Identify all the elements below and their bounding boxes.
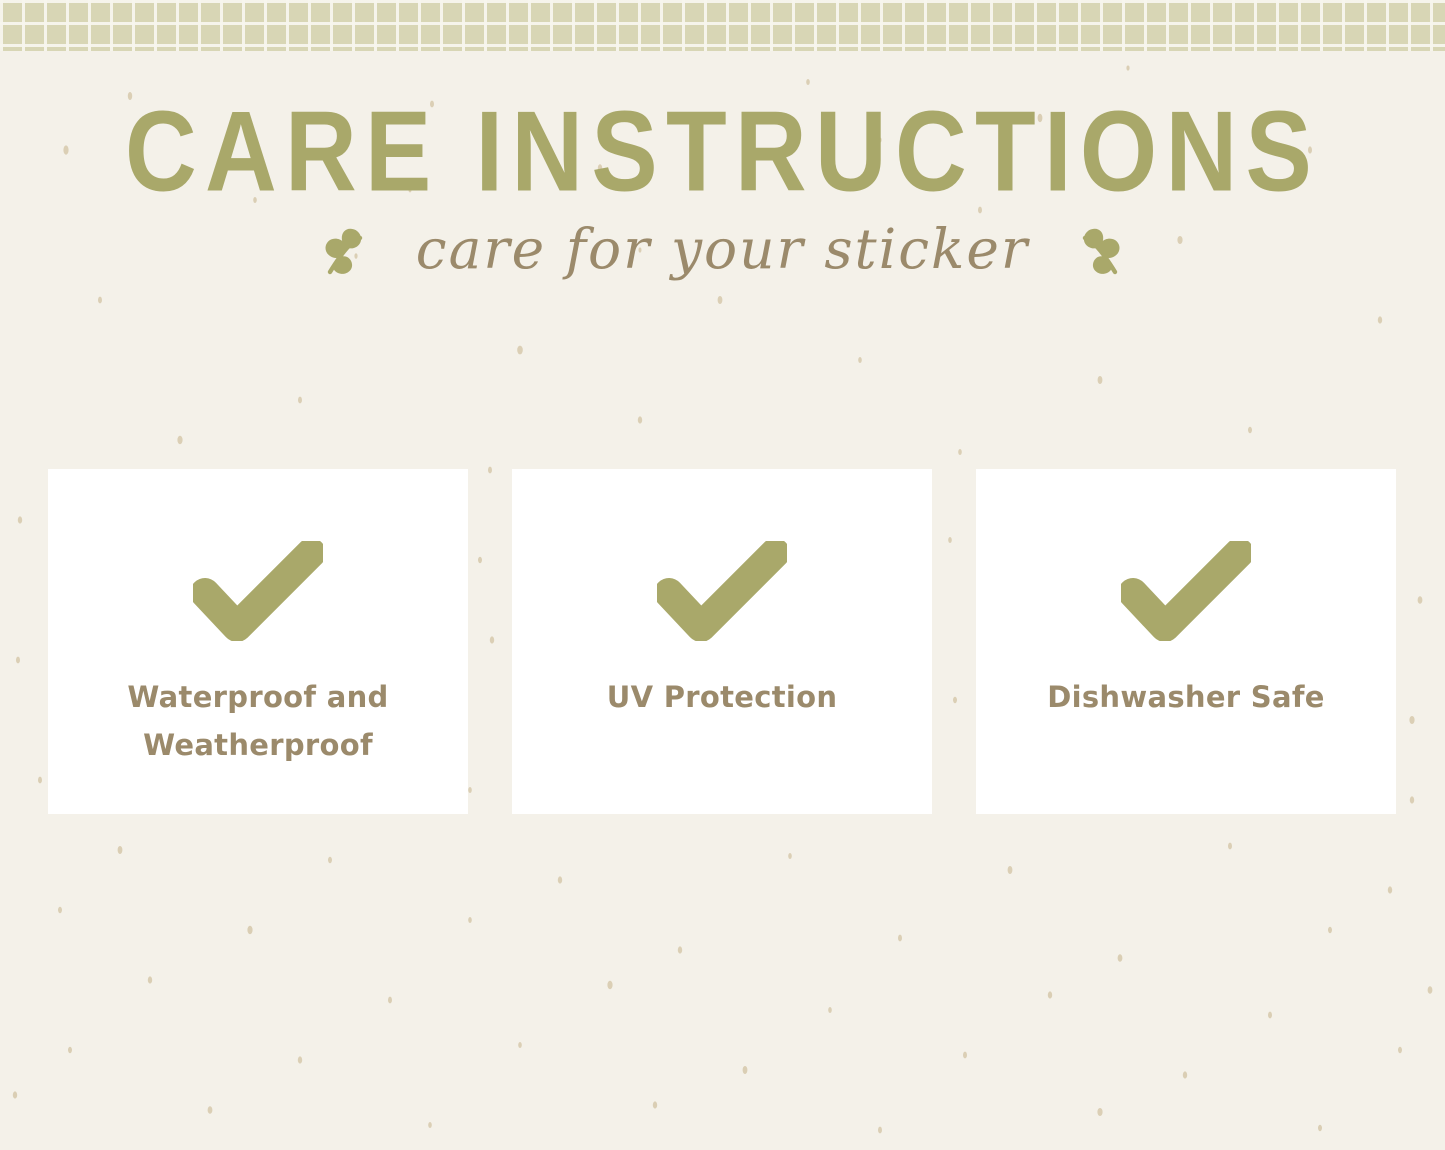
care-instructions-poster: CARE INSTRUCTIONS care for your sticker (0, 0, 1445, 1150)
feature-card-uv-protection: UV Protection (512, 469, 932, 814)
page-subtitle: care for your sticker (416, 214, 1029, 284)
feature-card-label: Waterproof and Weatherproof (108, 673, 408, 769)
poster-header: CARE INSTRUCTIONS care for your sticker (0, 96, 1445, 284)
feature-card-dishwasher-safe: Dishwasher Safe (976, 469, 1396, 814)
feature-card-waterproof: Waterproof and Weatherproof (48, 469, 468, 814)
leaf-sprig-icon (318, 220, 372, 278)
checkmark-icon (657, 541, 787, 641)
checkmark-icon (1121, 541, 1251, 641)
feature-card-label: UV Protection (607, 673, 838, 721)
feature-card-list: Waterproof and Weatherproof UV Protectio… (48, 469, 1396, 814)
leaf-sprig-icon (1073, 220, 1127, 278)
feature-card-label: Dishwasher Safe (1047, 673, 1325, 721)
checkmark-icon (193, 541, 323, 641)
page-title: CARE INSTRUCTIONS (58, 96, 1387, 206)
top-grid-band (0, 0, 1445, 54)
subtitle-row: care for your sticker (0, 214, 1445, 284)
